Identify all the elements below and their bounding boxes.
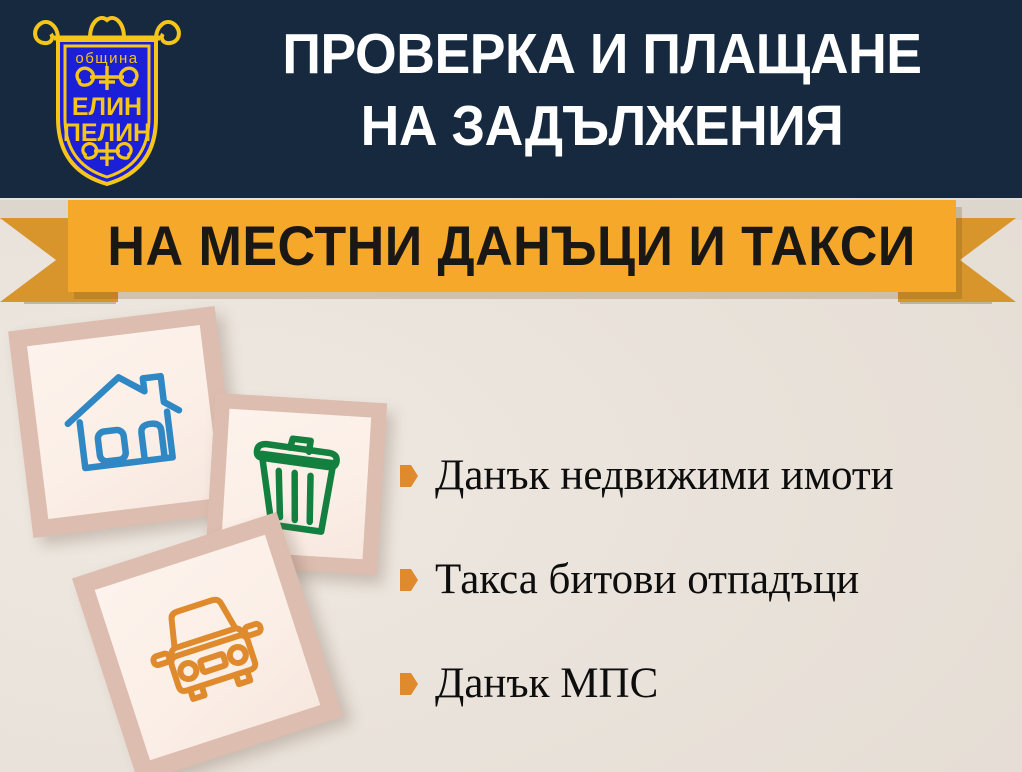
list-item-label: Данък МПС [435, 660, 658, 708]
bullet-arrow-icon [400, 465, 418, 487]
poster-root: община ЕЛИН ПЕЛИН [0, 0, 1022, 772]
ribbon-pale-strip-left [0, 200, 70, 220]
bullet-arrow-icon [400, 673, 418, 695]
car-icon [133, 581, 282, 714]
coat-of-arms-emblem: община ЕЛИН ПЕЛИН [24, 8, 190, 190]
emblem-name-line1: ЕЛИН [72, 93, 142, 121]
stamp-face [27, 325, 221, 519]
ribbon-pale-strip-right [952, 200, 1022, 220]
list-item-label: Данък недвижими имоти [435, 452, 894, 500]
page-title-line1: ПРОВЕРКА И ПЛАЩАНЕ [282, 22, 921, 86]
list-item[interactable]: Такса битови отпадъци [400, 528, 1015, 632]
ribbon-banner: НА МЕСТНИ ДАНЪЦИ И ТАКСИ [0, 196, 1022, 316]
header-band: община ЕЛИН ПЕЛИН [0, 0, 1022, 198]
page-title-line2: НА ЗАДЪЛЖЕНИЯ [220, 90, 983, 162]
tax-type-list: Данък недвижими имоти Такса битови отпад… [400, 424, 1015, 736]
list-item[interactable]: Данък МПС [400, 632, 1015, 736]
house-icon [56, 360, 192, 484]
list-item[interactable]: Данък недвижими имоти [400, 424, 1015, 528]
ribbon-text: НА МЕСТНИ ДАНЪЦИ И ТАКСИ [108, 218, 916, 274]
ribbon-main-box: НА МЕСТНИ ДАНЪЦИ И ТАКСИ [68, 200, 956, 292]
page-title: ПРОВЕРКА И ПЛАЩАНЕ НА ЗАДЪЛЖЕНИЯ [220, 18, 983, 162]
stamp-card-house [8, 306, 240, 538]
list-item-label: Такса битови отпадъци [435, 556, 859, 604]
emblem-municipality-word: община [75, 50, 138, 67]
bullet-arrow-icon [400, 569, 418, 591]
